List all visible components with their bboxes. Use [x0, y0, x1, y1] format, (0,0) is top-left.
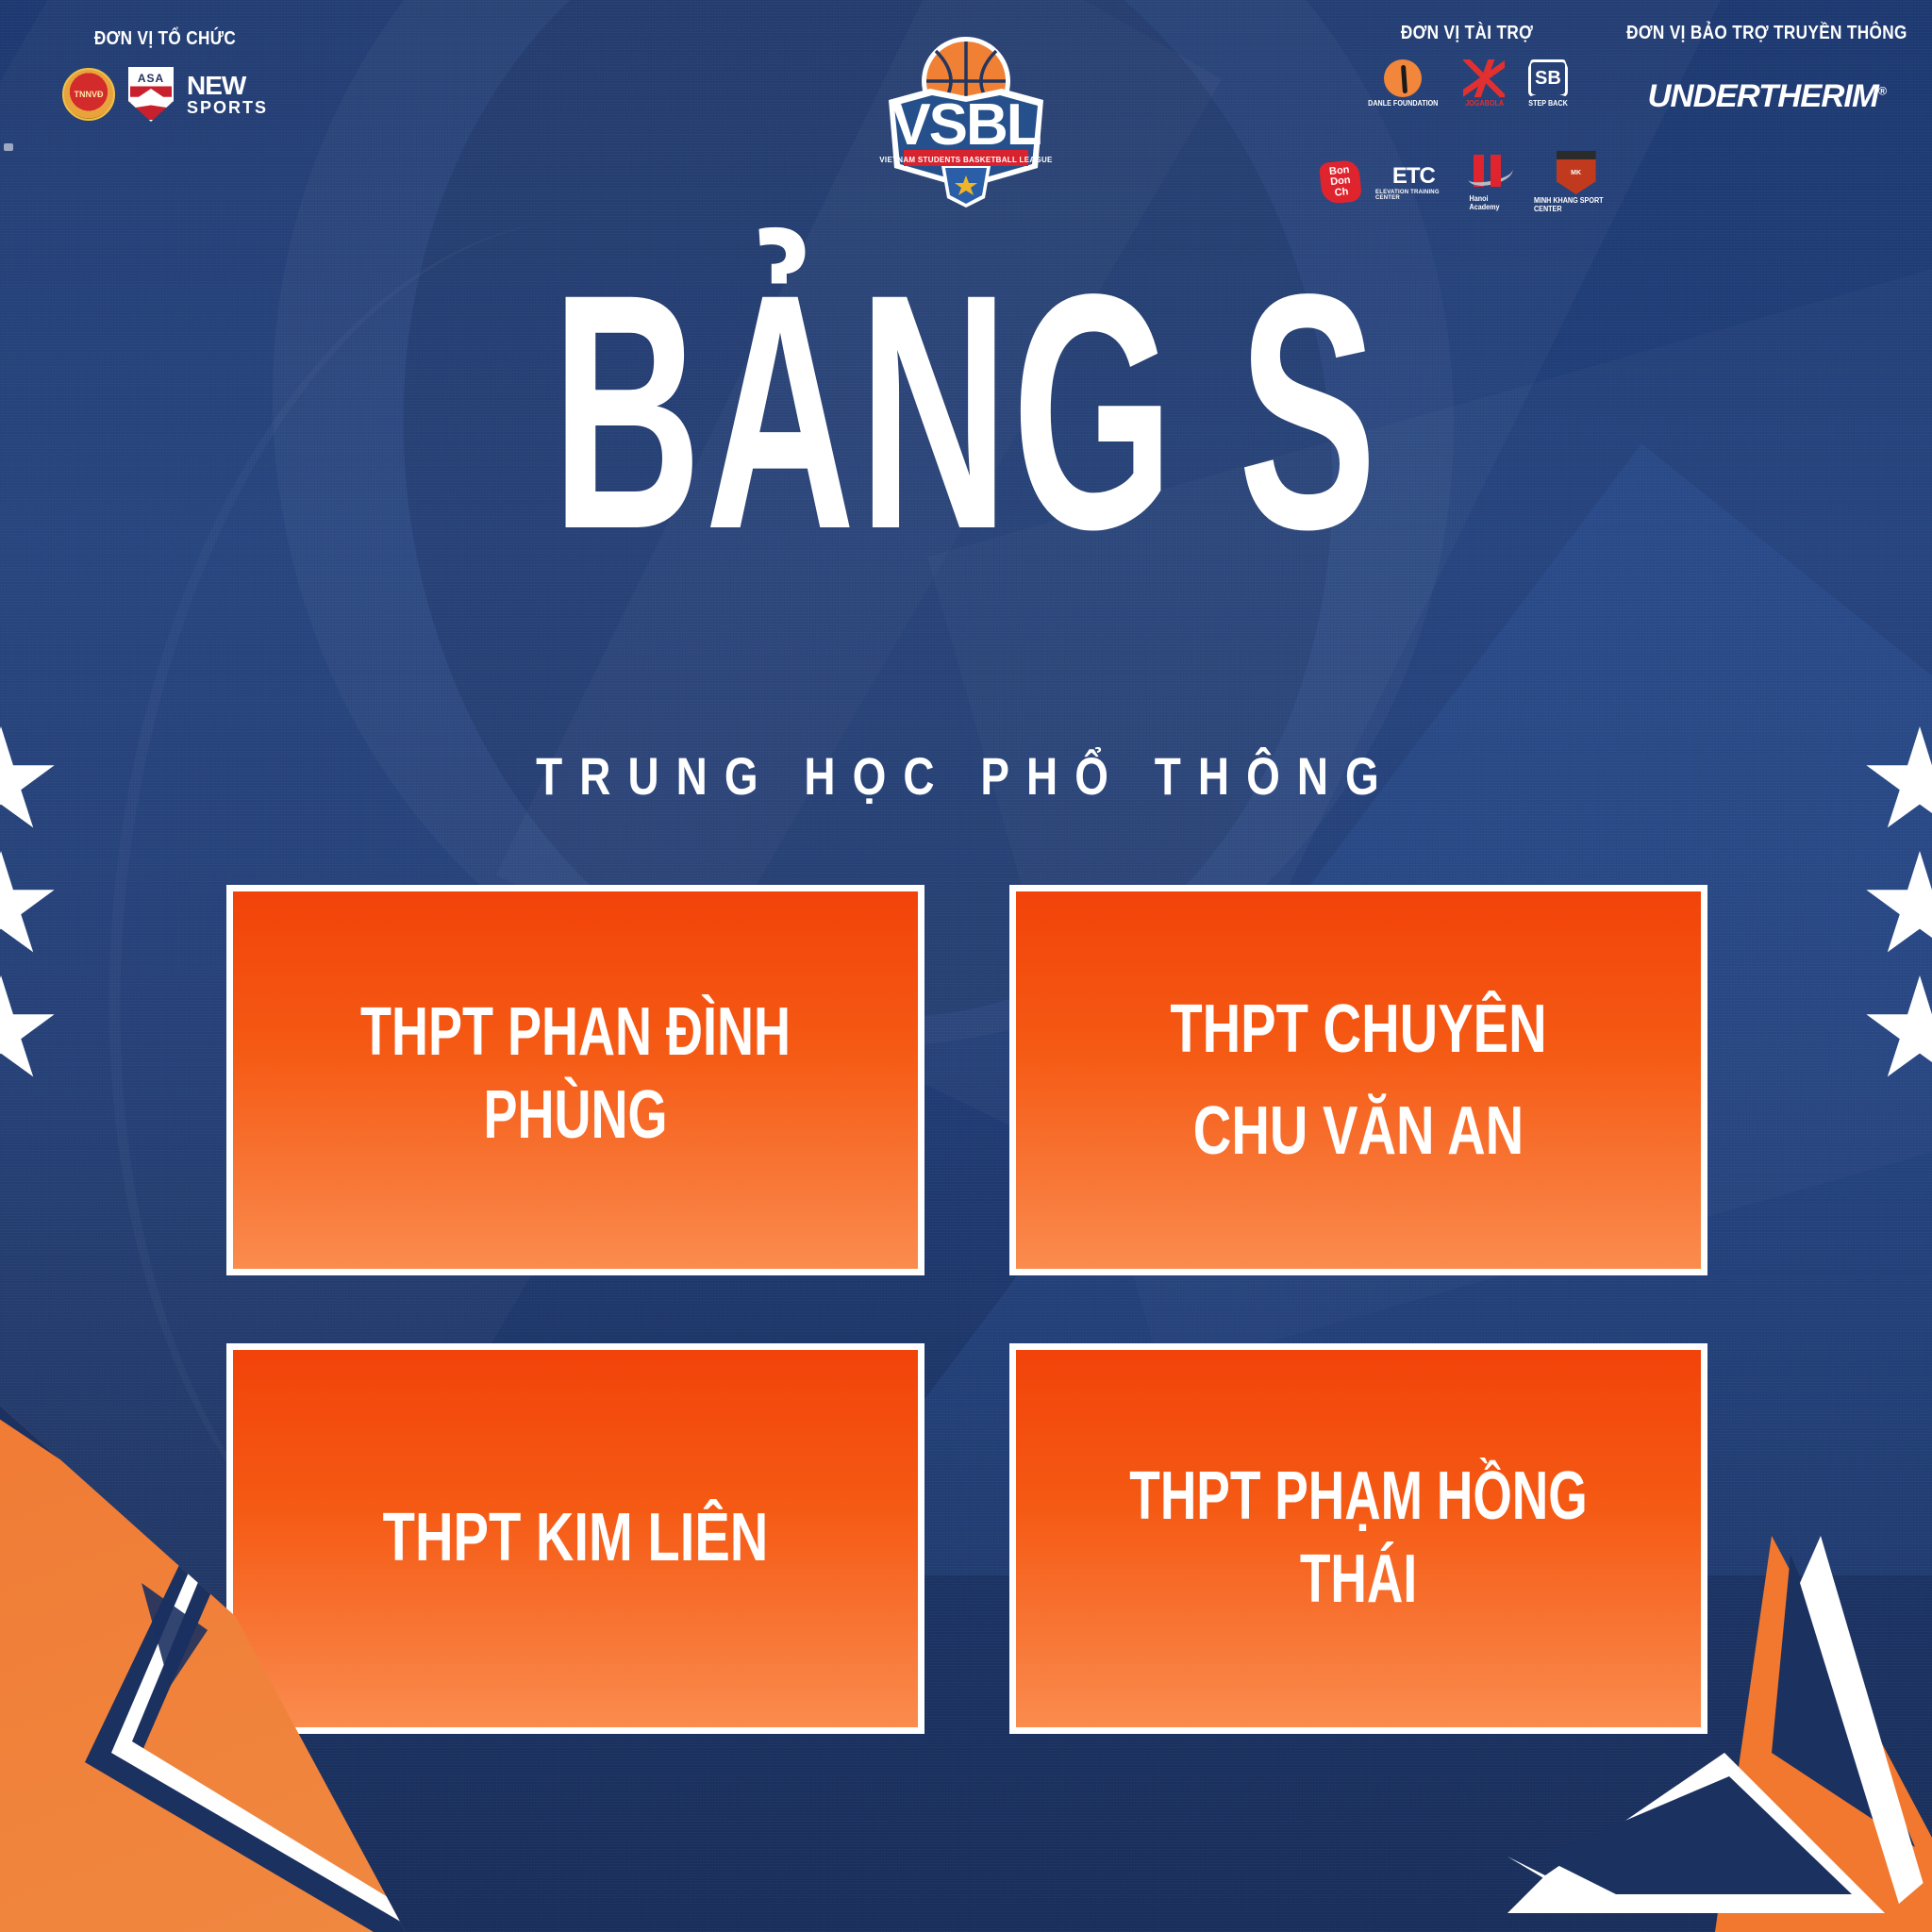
team-name: THPT CHUYÊN CHU VĂN AN — [1170, 978, 1546, 1182]
media-label: ĐƠN VỊ BẢO TRỢ TRUYỀN THÔNG — [1626, 23, 1907, 44]
etc-caption: ELEVATION TRAINING CENTER — [1375, 190, 1452, 201]
jogabola-logo: JOGABOLA — [1463, 59, 1506, 108]
jogabola-caption: JOGABOLA — [1465, 99, 1504, 108]
step-back-mark-icon: SB — [1528, 59, 1568, 97]
bondonch-mark-icon: BonDonCh — [1319, 159, 1362, 205]
vsbl-logo: VSBL VIETNAM STUDENTS BASKETBALL LEAGUE — [872, 26, 1060, 215]
organizer-label: ĐƠN VỊ TỔ CHỨC — [31, 28, 299, 50]
corner-decoration-bottom-right — [1489, 1347, 1932, 1932]
team-card[interactable]: THPT PHAN ĐÌNH PHÙNG — [226, 885, 924, 1275]
undertherim-registered-mark: ® — [1878, 85, 1886, 98]
page-subtitle: TRUNG HỌC PHỔ THÔNG — [174, 745, 1757, 807]
hanoi-academy-mark-icon — [1468, 153, 1513, 192]
stars-right — [1864, 726, 1932, 1100]
team-name: THPT PHAN ĐÌNH PHÙNG — [342, 991, 808, 1158]
asa-logo-text: ASA — [138, 72, 164, 85]
star-icon — [1864, 726, 1932, 838]
media-block: ĐƠN VỊ BẢO TRỢ TRUYỀN THÔNG UNDERTHERIM® — [1604, 23, 1929, 115]
star-icon — [0, 975, 57, 1087]
sponsor-logos-row-2: BonDonCh ETC ELEVATION TRAINING CENTER H… — [1321, 151, 1623, 213]
sponsor-block: ĐƠN VỊ TÀI TRỢ DANLE FOUNDATION JOGABOLA… — [1325, 23, 1608, 108]
danle-foundation-logo: DANLE FOUNDATION — [1364, 59, 1442, 108]
danle-foundation-caption: DANLE FOUNDATION — [1368, 99, 1438, 108]
etc-logo: ETC ELEVATION TRAINING CENTER — [1375, 163, 1452, 201]
etc-mark-text: ETC — [1392, 163, 1435, 190]
team-name: THPT KIM LIÊN — [383, 1497, 769, 1580]
asa-logo-icon: ASA ★ — [128, 67, 174, 122]
new-sports-logo-icon: NEW SPORTS — [187, 73, 268, 116]
organizer-logos: TNNVĐ ASA ★ NEW SPORTS — [9, 67, 321, 122]
svg-text:VSBL: VSBL — [891, 92, 1040, 158]
step-back-logo: SB STEP BACK — [1526, 59, 1570, 108]
star-icon — [0, 851, 57, 962]
minh-khang-logo: MK MINH KHANG SPORT CENTER — [1529, 151, 1623, 213]
header: ĐƠN VỊ TỔ CHỨC TNNVĐ ASA ★ NEW SPORTS — [0, 0, 1932, 236]
chevron-arrow-icon — [1489, 1347, 1932, 1932]
step-back-caption: STEP BACK — [1528, 99, 1567, 108]
organizer-block: ĐƠN VỊ TỔ CHỨC TNNVĐ ASA ★ NEW SPORTS — [9, 28, 321, 122]
basketball-player-icon — [1384, 59, 1422, 97]
hanoi-academy-caption: Hanoi Academy — [1469, 194, 1511, 211]
star-icon — [1864, 975, 1932, 1087]
vsbl-logo-icon: VSBL VIETNAM STUDENTS BASKETBALL LEAGUE — [872, 26, 1060, 215]
jogabola-mark-icon — [1463, 59, 1505, 97]
stars-left — [0, 726, 68, 1100]
tiem-nang-nha-vo-dich-logo-icon: TNNVĐ — [62, 68, 115, 121]
undertherim-text: UNDERTHERIM — [1647, 78, 1877, 114]
sponsor-label: ĐƠN VỊ TÀI TRỢ — [1345, 23, 1589, 44]
team-card[interactable]: THPT CHUYÊN CHU VĂN AN — [1009, 885, 1707, 1275]
new-sports-line2: SPORTS — [187, 99, 268, 116]
page-title: BẢNG S — [367, 269, 1565, 557]
new-sports-line1: NEW — [187, 73, 268, 99]
media-logos: UNDERTHERIM® — [1604, 78, 1929, 115]
minh-khang-mark-icon: MK — [1557, 151, 1596, 194]
star-icon — [0, 726, 57, 838]
vsbl-tagline: VIETNAM STUDENTS BASKETBALL LEAGUE — [879, 156, 1053, 164]
sponsor-logos-row-1: DANLE FOUNDATION JOGABOLA SB STEP BACK — [1325, 59, 1608, 108]
etc-mark-icon: ETC ELEVATION TRAINING CENTER — [1375, 163, 1452, 201]
bondonch-logo: BonDonCh — [1321, 161, 1360, 203]
poster-canvas: ĐƠN VỊ TỔ CHỨC TNNVĐ ASA ★ NEW SPORTS — [0, 0, 1932, 1932]
undertherim-logo-icon: UNDERTHERIM® — [1647, 78, 1885, 115]
team-card[interactable]: THPT KIM LIÊN — [226, 1343, 924, 1734]
hanoi-academy-logo: Hanoi Academy — [1467, 153, 1515, 211]
team-grid: THPT PHAN ĐÌNH PHÙNG THPT CHUYÊN CHU VĂN… — [226, 885, 1707, 1734]
star-icon — [1864, 851, 1932, 962]
minh-khang-caption: MINH KHANG SPORT CENTER — [1534, 196, 1618, 213]
